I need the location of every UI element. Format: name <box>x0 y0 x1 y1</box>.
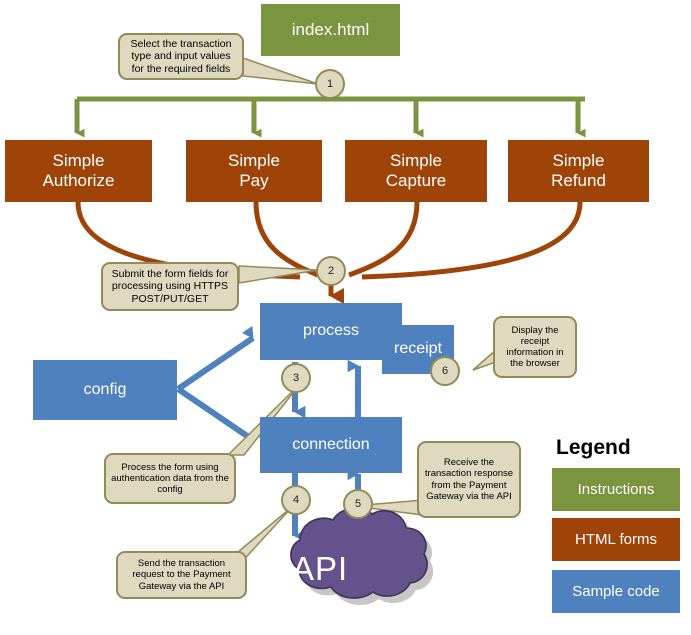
node-simple-pay[interactable]: SimplePay <box>186 140 322 202</box>
marker-2[interactable]: 2 <box>316 256 346 286</box>
diagram-canvas: index.html SimpleAuthorize SimplePay Sim… <box>0 0 691 635</box>
marker-6[interactable]: 6 <box>430 356 460 386</box>
callout-step-4: Send the transaction request to the Paym… <box>116 551 247 599</box>
marker-3[interactable]: 3 <box>281 363 311 393</box>
node-simple-capture[interactable]: SimpleCapture <box>345 140 487 202</box>
callout-step-1: Select the transaction type and input va… <box>118 33 244 80</box>
callout-step-4-text: Send the transaction request to the Paym… <box>122 558 241 592</box>
node-config-label: config <box>84 381 127 399</box>
node-process-label: process <box>303 322 359 340</box>
node-simple-refund-label: SimpleRefund <box>551 151 606 190</box>
node-process[interactable]: process <box>260 303 402 360</box>
callout-step-2-text: Submit the form fields for processing us… <box>107 268 233 305</box>
node-simple-refund[interactable]: SimpleRefund <box>508 140 649 202</box>
callout-step-3: Process the form using authentication da… <box>104 453 236 504</box>
node-connection[interactable]: connection <box>260 417 402 473</box>
leader-2 <box>239 266 318 283</box>
node-simple-authorize-label: SimpleAuthorize <box>43 151 115 190</box>
leader-1 <box>243 58 318 84</box>
legend-item-instructions-label: Instructions <box>578 481 655 498</box>
node-simple-pay-label: SimplePay <box>228 151 280 190</box>
callout-step-5: Receive the transaction response from th… <box>417 441 521 518</box>
callout-step-5-text: Receive the transaction response from th… <box>423 457 515 502</box>
marker-5[interactable]: 5 <box>343 489 373 519</box>
node-config[interactable]: config <box>33 360 177 420</box>
callout-step-1-text: Select the transaction type and input va… <box>124 38 238 75</box>
marker-4[interactable]: 4 <box>281 485 311 515</box>
marker-1[interactable]: 1 <box>315 69 345 99</box>
node-simple-capture-label: SimpleCapture <box>386 151 446 190</box>
node-index-html[interactable]: index.html <box>261 4 400 56</box>
legend-item-sample-code-label: Sample code <box>572 583 660 600</box>
callout-step-2: Submit the form fields for processing us… <box>101 262 239 311</box>
node-index-html-label: index.html <box>292 20 369 40</box>
node-connection-label: connection <box>292 436 369 454</box>
legend-item-html-forms: HTML forms <box>552 518 680 561</box>
node-api-label: API <box>292 550 348 588</box>
callout-step-6: Display the receipt information in the b… <box>493 316 577 378</box>
legend-item-instructions: Instructions <box>552 468 680 511</box>
legend-title: Legend <box>556 436 631 460</box>
callout-step-6-text: Display the receipt information in the b… <box>499 325 571 370</box>
legend-item-html-forms-label: HTML forms <box>575 531 657 548</box>
legend-item-sample-code: Sample code <box>552 570 680 613</box>
node-receipt-label: receipt <box>394 340 442 358</box>
node-simple-authorize[interactable]: SimpleAuthorize <box>5 140 152 202</box>
callout-step-3-text: Process the form using authentication da… <box>110 462 230 496</box>
